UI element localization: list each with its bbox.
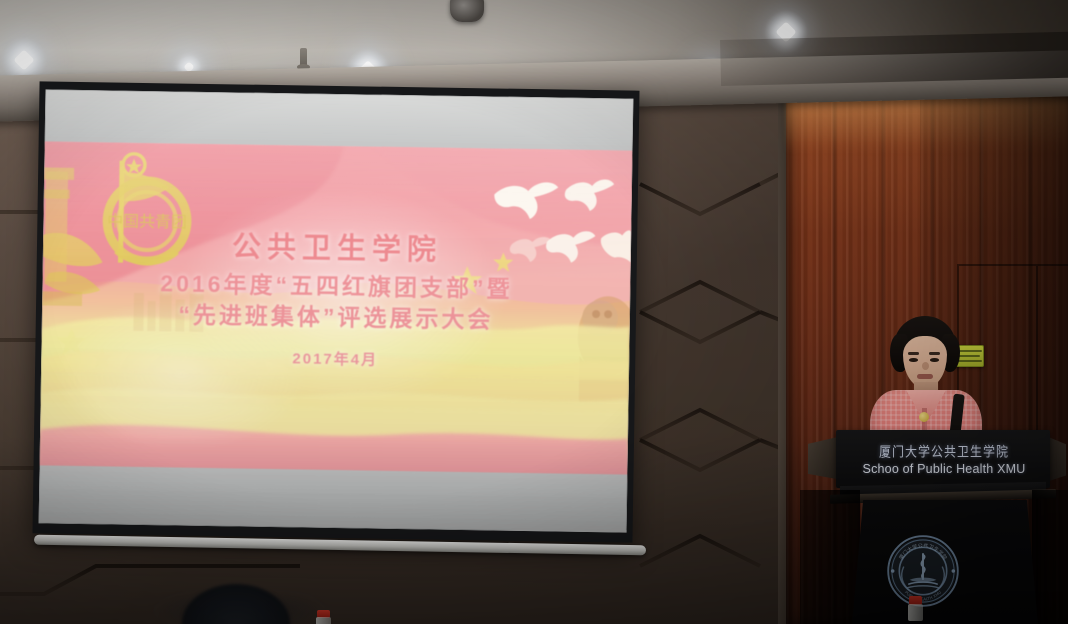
eyebrow-left (908, 352, 919, 355)
podium-side-left (800, 490, 860, 624)
lecture-hall-photo: safety-notice-sign (0, 0, 1068, 624)
water-bottle-red-cap (908, 596, 923, 620)
screen-blank-area-bottom (39, 465, 628, 532)
podium-side-right (1032, 490, 1068, 624)
screen-blank-area-top (45, 89, 634, 150)
nose (922, 362, 929, 370)
ceiling-sprinkler-head (300, 48, 307, 66)
podium-name-chinese: 厦门大学公共卫生学院 (879, 441, 1009, 461)
eyebrow-right (929, 352, 940, 355)
eye-left (909, 358, 918, 362)
xmu-public-health-seal-icon: 厦门大学公共卫生学院 PUBLIC HEALTH XMU (886, 534, 960, 608)
wood-panel-seam (957, 264, 1068, 266)
presentation-slide: 中国共青团 (39, 141, 632, 482)
slide-title-line-2: “先进班集体”评选展示大会 (42, 300, 630, 336)
water-bottle-red-cap (316, 610, 331, 624)
jacket-button (919, 412, 929, 422)
podium: 厦门大学公共卫生学院 Schoo of Public Health XMU (800, 430, 1068, 624)
ceiling-soffit-shadow (720, 31, 1068, 86)
mouth (917, 374, 933, 379)
eye-right (930, 358, 939, 362)
projection-screen: 中国共青团 (32, 81, 639, 542)
projection-screen-surface: 中国共青团 (39, 89, 634, 532)
ceiling-mounted-projector (450, 0, 484, 22)
slide-text-block: 公共卫生学院 2016年度“五四红旗团支部”暨 “先进班集体”评选展示大会 20… (41, 227, 631, 373)
bottle-body (316, 617, 331, 624)
podium-name-english: Schoo of Public Health XMU (863, 462, 1026, 476)
podium-nameplate: 厦门大学公共卫生学院 Schoo of Public Health XMU (844, 436, 1044, 482)
slide-title-line-1: 2016年度“五四红旗团支部”暨 (42, 269, 630, 305)
bottle-body (908, 604, 923, 621)
